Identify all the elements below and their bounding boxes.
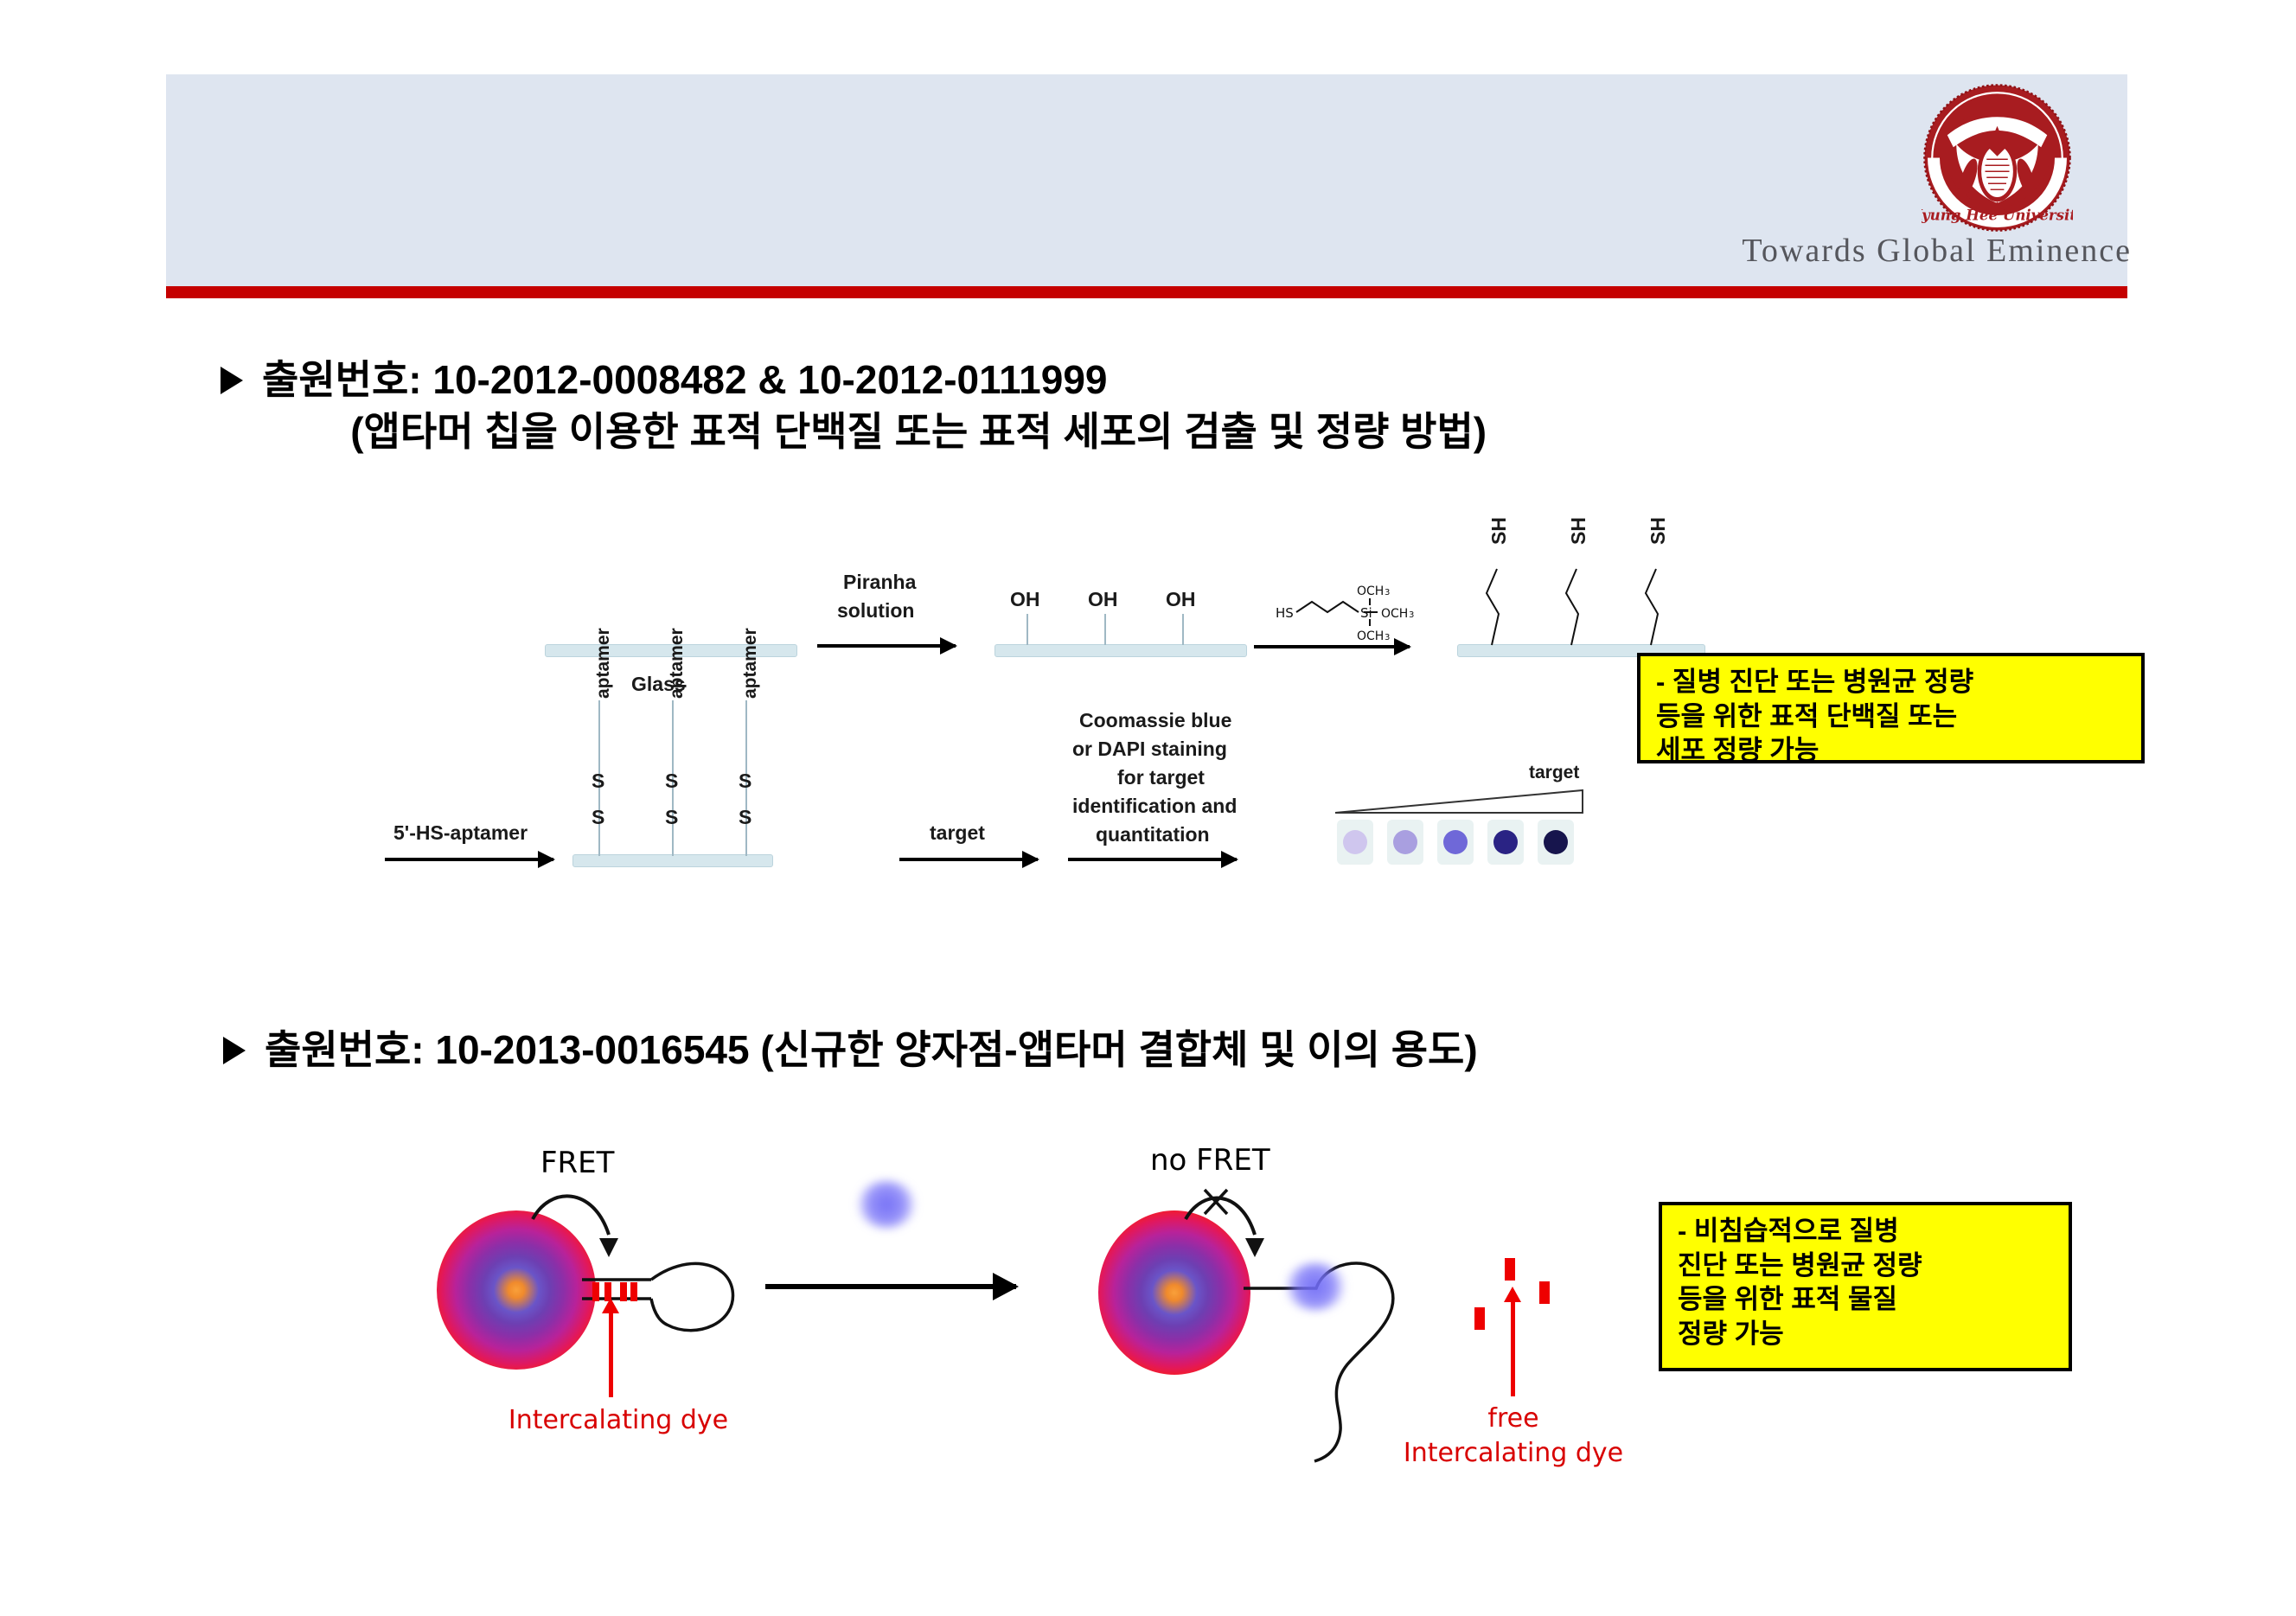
oh-stem-1 xyxy=(1026,614,1028,645)
aptamer-chip-diagram: Glass Piranha solution OH OH OH HS Si OC… xyxy=(536,519,1608,925)
slide-root: Kyung Hee University Towards Global Emin… xyxy=(0,0,2296,1616)
aptamer-label-1: aptamer xyxy=(593,628,614,699)
intercalating-dye-label: Intercalating dye xyxy=(497,1405,739,1435)
aptamer-chip-bar xyxy=(572,854,773,867)
sulfur-lower-3: S xyxy=(739,806,751,829)
sh-chain-group xyxy=(1457,545,1704,648)
sulfur-lower-1: S xyxy=(592,806,604,829)
kyung-hee-university-seal-icon: Kyung Hee University xyxy=(1922,82,2073,233)
silanization-arrow xyxy=(1254,645,1410,648)
sh-label-1: SH xyxy=(1487,517,1511,545)
staining-label-line-5: quantitation xyxy=(1096,823,1210,846)
header-tagline: Towards Global Eminence xyxy=(1647,232,2132,275)
spot-1 xyxy=(1343,830,1367,854)
silane-och3-top-sub: 3 xyxy=(1385,588,1390,597)
staining-arrow xyxy=(1068,858,1237,861)
spot-3 xyxy=(1443,830,1468,854)
sulfur-lower-2: S xyxy=(665,806,678,829)
intercalating-dye-bar-1 xyxy=(592,1282,599,1301)
heading-2-line-1: 출원번호: 10-2013-0016545 (신규한 양자점-앱타머 결합체 및… xyxy=(265,1025,1478,1076)
spot-well-4 xyxy=(1487,820,1524,865)
spot-well-5 xyxy=(1538,820,1574,865)
oh-stem-2 xyxy=(1104,614,1106,645)
oh-label-1: OH xyxy=(1010,588,1040,611)
spot-2 xyxy=(1393,830,1417,854)
sulfur-upper-3: S xyxy=(739,770,751,793)
free-dye-bar-2 xyxy=(1539,1281,1550,1304)
callout-box-2: - 비침습적으로 질병 진단 또는 병원균 정량 등을 위한 표적 물질 정량 … xyxy=(1659,1202,2072,1371)
opened-aptamer-right xyxy=(1237,1245,1479,1470)
free-dye-bar-3 xyxy=(1474,1307,1485,1330)
sulfur-upper-2: S xyxy=(665,770,678,793)
heading-1-line-2: (앱타머 칩을 이용한 표적 단백질 또는 표적 세포의 검출 및 정량 방법) xyxy=(262,406,1487,458)
bound-target-blob xyxy=(1284,1262,1346,1311)
sh-label-2: SH xyxy=(1567,517,1590,545)
gradient-target-label: target xyxy=(1529,763,1579,783)
silane-och3-bottom-sub: 3 xyxy=(1385,633,1390,642)
hs-aptamer-arrow xyxy=(385,858,553,861)
staining-label-line-3: for target xyxy=(1117,766,1205,789)
spot-well-2 xyxy=(1387,820,1423,865)
reaction-arrow xyxy=(765,1284,1016,1289)
silane-och3-right: OCH xyxy=(1381,607,1408,621)
triangle-right-icon xyxy=(223,1037,246,1064)
oh-label-2: OH xyxy=(1088,588,1118,611)
staining-label-line-4: identification and xyxy=(1072,795,1237,818)
sh-label-3: SH xyxy=(1647,517,1670,545)
free-dye-bar-1 xyxy=(1505,1258,1515,1281)
oh-surface-bar xyxy=(995,644,1247,657)
header-red-rule xyxy=(166,286,2127,298)
heading-1: 출원번호: 10-2012-0008482 & 10-2012-0111999 … xyxy=(221,354,1487,458)
intercalating-dye-bar-4 xyxy=(630,1282,637,1301)
piranha-label-line-1: Piranha xyxy=(843,571,916,594)
piranha-arrow xyxy=(817,644,956,648)
staining-label-line-1: Coomassie blue xyxy=(1079,709,1231,732)
silane-och3-top: OCH xyxy=(1357,584,1384,598)
silane-si-label: Si xyxy=(1360,605,1372,621)
target-molecule-blob xyxy=(856,1180,917,1229)
fret-label: FRET xyxy=(540,1146,614,1180)
intercalating-dye-pointer xyxy=(609,1313,613,1397)
silane-och3-right-sub: 3 xyxy=(1409,610,1414,620)
spot-array-panel: target xyxy=(1332,770,1608,865)
sulfur-upper-1: S xyxy=(592,770,604,793)
qdot-aptamer-fret-diagram: FRET Intercalating dye no FRET xyxy=(406,1124,1643,1504)
piranha-label-line-2: solution xyxy=(837,599,914,623)
callout-box-1: - 질병 진단 또는 병원균 정량 등을 위한 표적 단백질 또는 세포 정량 … xyxy=(1637,653,2145,763)
oh-stem-3 xyxy=(1182,614,1184,645)
target-binding-arrow xyxy=(899,858,1038,861)
spot-5 xyxy=(1544,830,1568,854)
intercalating-dye-bar-3 xyxy=(620,1282,627,1301)
free-dye-label-line-2: Intercalating dye xyxy=(1379,1438,1647,1468)
silane-hs-label: HS xyxy=(1276,605,1294,621)
free-dye-pointer xyxy=(1511,1301,1515,1396)
aptamer-label-2: aptamer xyxy=(667,628,688,699)
spot-well-1 xyxy=(1337,820,1373,865)
staining-label-line-2: or DAPI staining xyxy=(1072,738,1227,761)
heading-2: 출원번호: 10-2013-0016545 (신규한 양자점-앱타머 결합체 및… xyxy=(223,1025,1478,1076)
aptamer-label-3: aptamer xyxy=(740,628,761,699)
silane-och3-bottom: OCH xyxy=(1357,629,1384,643)
free-dye-label-line-1: free xyxy=(1397,1403,1630,1434)
triangle-right-icon xyxy=(221,367,243,394)
heading-1-line-1: 출원번호: 10-2012-0008482 & 10-2012-0111999 xyxy=(262,354,1487,406)
spot-4 xyxy=(1493,830,1518,854)
spot-well-3 xyxy=(1437,820,1474,865)
hs-aptamer-label: 5'-HS-aptamer xyxy=(393,821,528,845)
target-step-label: target xyxy=(930,821,985,845)
oh-label-3: OH xyxy=(1166,588,1196,611)
seal-text: Kyung Hee University xyxy=(1922,206,2073,223)
no-fret-label: no FRET xyxy=(1150,1143,1270,1178)
